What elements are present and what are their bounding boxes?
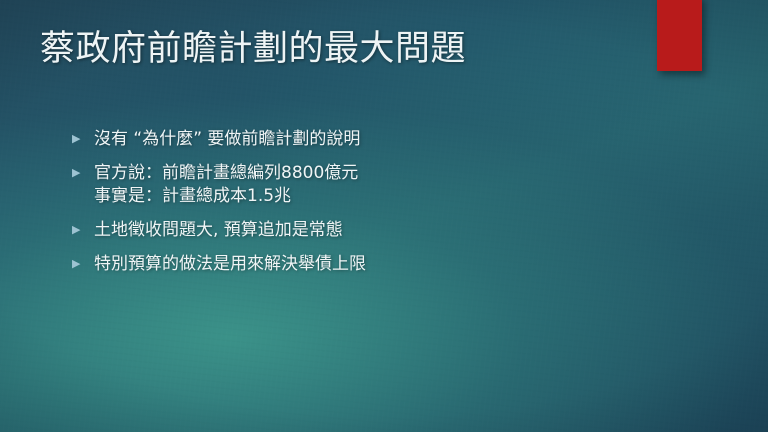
- triangle-bullet-icon: ▶: [72, 253, 94, 270]
- list-item-text: 特別預算的做法是用來解決舉債上限: [94, 253, 682, 276]
- list-item-text: 沒有 “為什麼” 要做前瞻計劃的說明: [94, 128, 682, 151]
- accent-bar-decoration: [657, 0, 702, 71]
- list-item-text-group: 官方說：前瞻計畫總編列8800億元 事實是：計畫總成本1.5兆: [94, 162, 682, 208]
- list-item: ▶ 沒有 “為什麼” 要做前瞻計劃的說明: [72, 128, 682, 151]
- bullet-list: ▶ 沒有 “為什麼” 要做前瞻計劃的說明 ▶ 官方說：前瞻計畫總編列8800億元…: [72, 128, 682, 287]
- list-item-text-line-1: 官方說：前瞻計畫總編列8800億元: [94, 163, 358, 183]
- triangle-bullet-icon: ▶: [72, 128, 94, 145]
- list-item-text: 土地徵收問題大, 預算追加是常態: [94, 219, 682, 242]
- list-item: ▶ 特別預算的做法是用來解決舉債上限: [72, 253, 682, 276]
- slide-title: 蔡政府前瞻計劃的最大問題: [40, 26, 640, 72]
- list-item: ▶ 土地徵收問題大, 預算追加是常態: [72, 219, 682, 242]
- triangle-bullet-icon: ▶: [72, 219, 94, 236]
- presentation-slide: 蔡政府前瞻計劃的最大問題 ▶ 沒有 “為什麼” 要做前瞻計劃的說明 ▶ 官方說：…: [0, 0, 768, 432]
- triangle-bullet-icon: ▶: [72, 162, 94, 179]
- list-item: ▶ 官方說：前瞻計畫總編列8800億元 事實是：計畫總成本1.5兆: [72, 162, 682, 208]
- list-item-text-line-2: 事實是：計畫總成本1.5兆: [94, 185, 682, 208]
